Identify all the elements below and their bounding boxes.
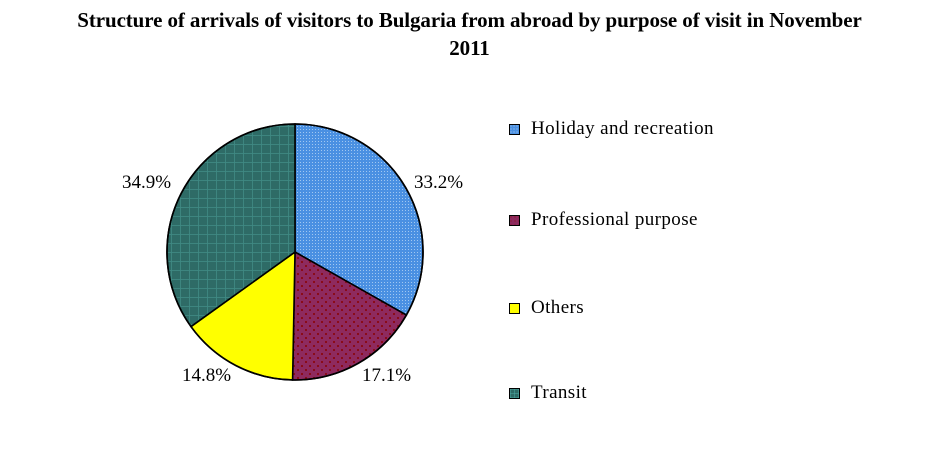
pie-value-label-transit: 34.9%	[122, 172, 171, 194]
legend-item-label: Others	[531, 297, 584, 319]
pie-slices	[167, 124, 423, 380]
legend-item-professional-purpose[interactable]: Professional purpose	[509, 209, 698, 231]
legend-swatch-icon	[509, 124, 520, 135]
legend-swatch-icon	[509, 388, 520, 399]
pie-value-label-professional-purpose: 17.1%	[362, 365, 411, 387]
pie-value-label-others: 14.8%	[182, 365, 231, 387]
pie-chart-svg	[0, 0, 500, 454]
legend-item-label: Professional purpose	[531, 209, 698, 231]
legend-item-transit[interactable]: Transit	[509, 382, 587, 404]
legend-item-label: Holiday and recreation	[531, 118, 714, 140]
legend-swatch-icon	[509, 215, 520, 226]
legend-item-others[interactable]: Others	[509, 297, 584, 319]
legend-item-holiday-and-recreation[interactable]: Holiday and recreation	[509, 118, 714, 140]
pie-chart: 34.9% 33.2% 14.8% 17.1%	[0, 0, 500, 454]
chart-page: Structure of arrivals of visitors to Bul…	[0, 0, 939, 454]
pie-value-label-holiday-and-recreation: 33.2%	[414, 172, 463, 194]
legend-swatch-icon	[509, 303, 520, 314]
legend-item-label: Transit	[531, 382, 587, 404]
